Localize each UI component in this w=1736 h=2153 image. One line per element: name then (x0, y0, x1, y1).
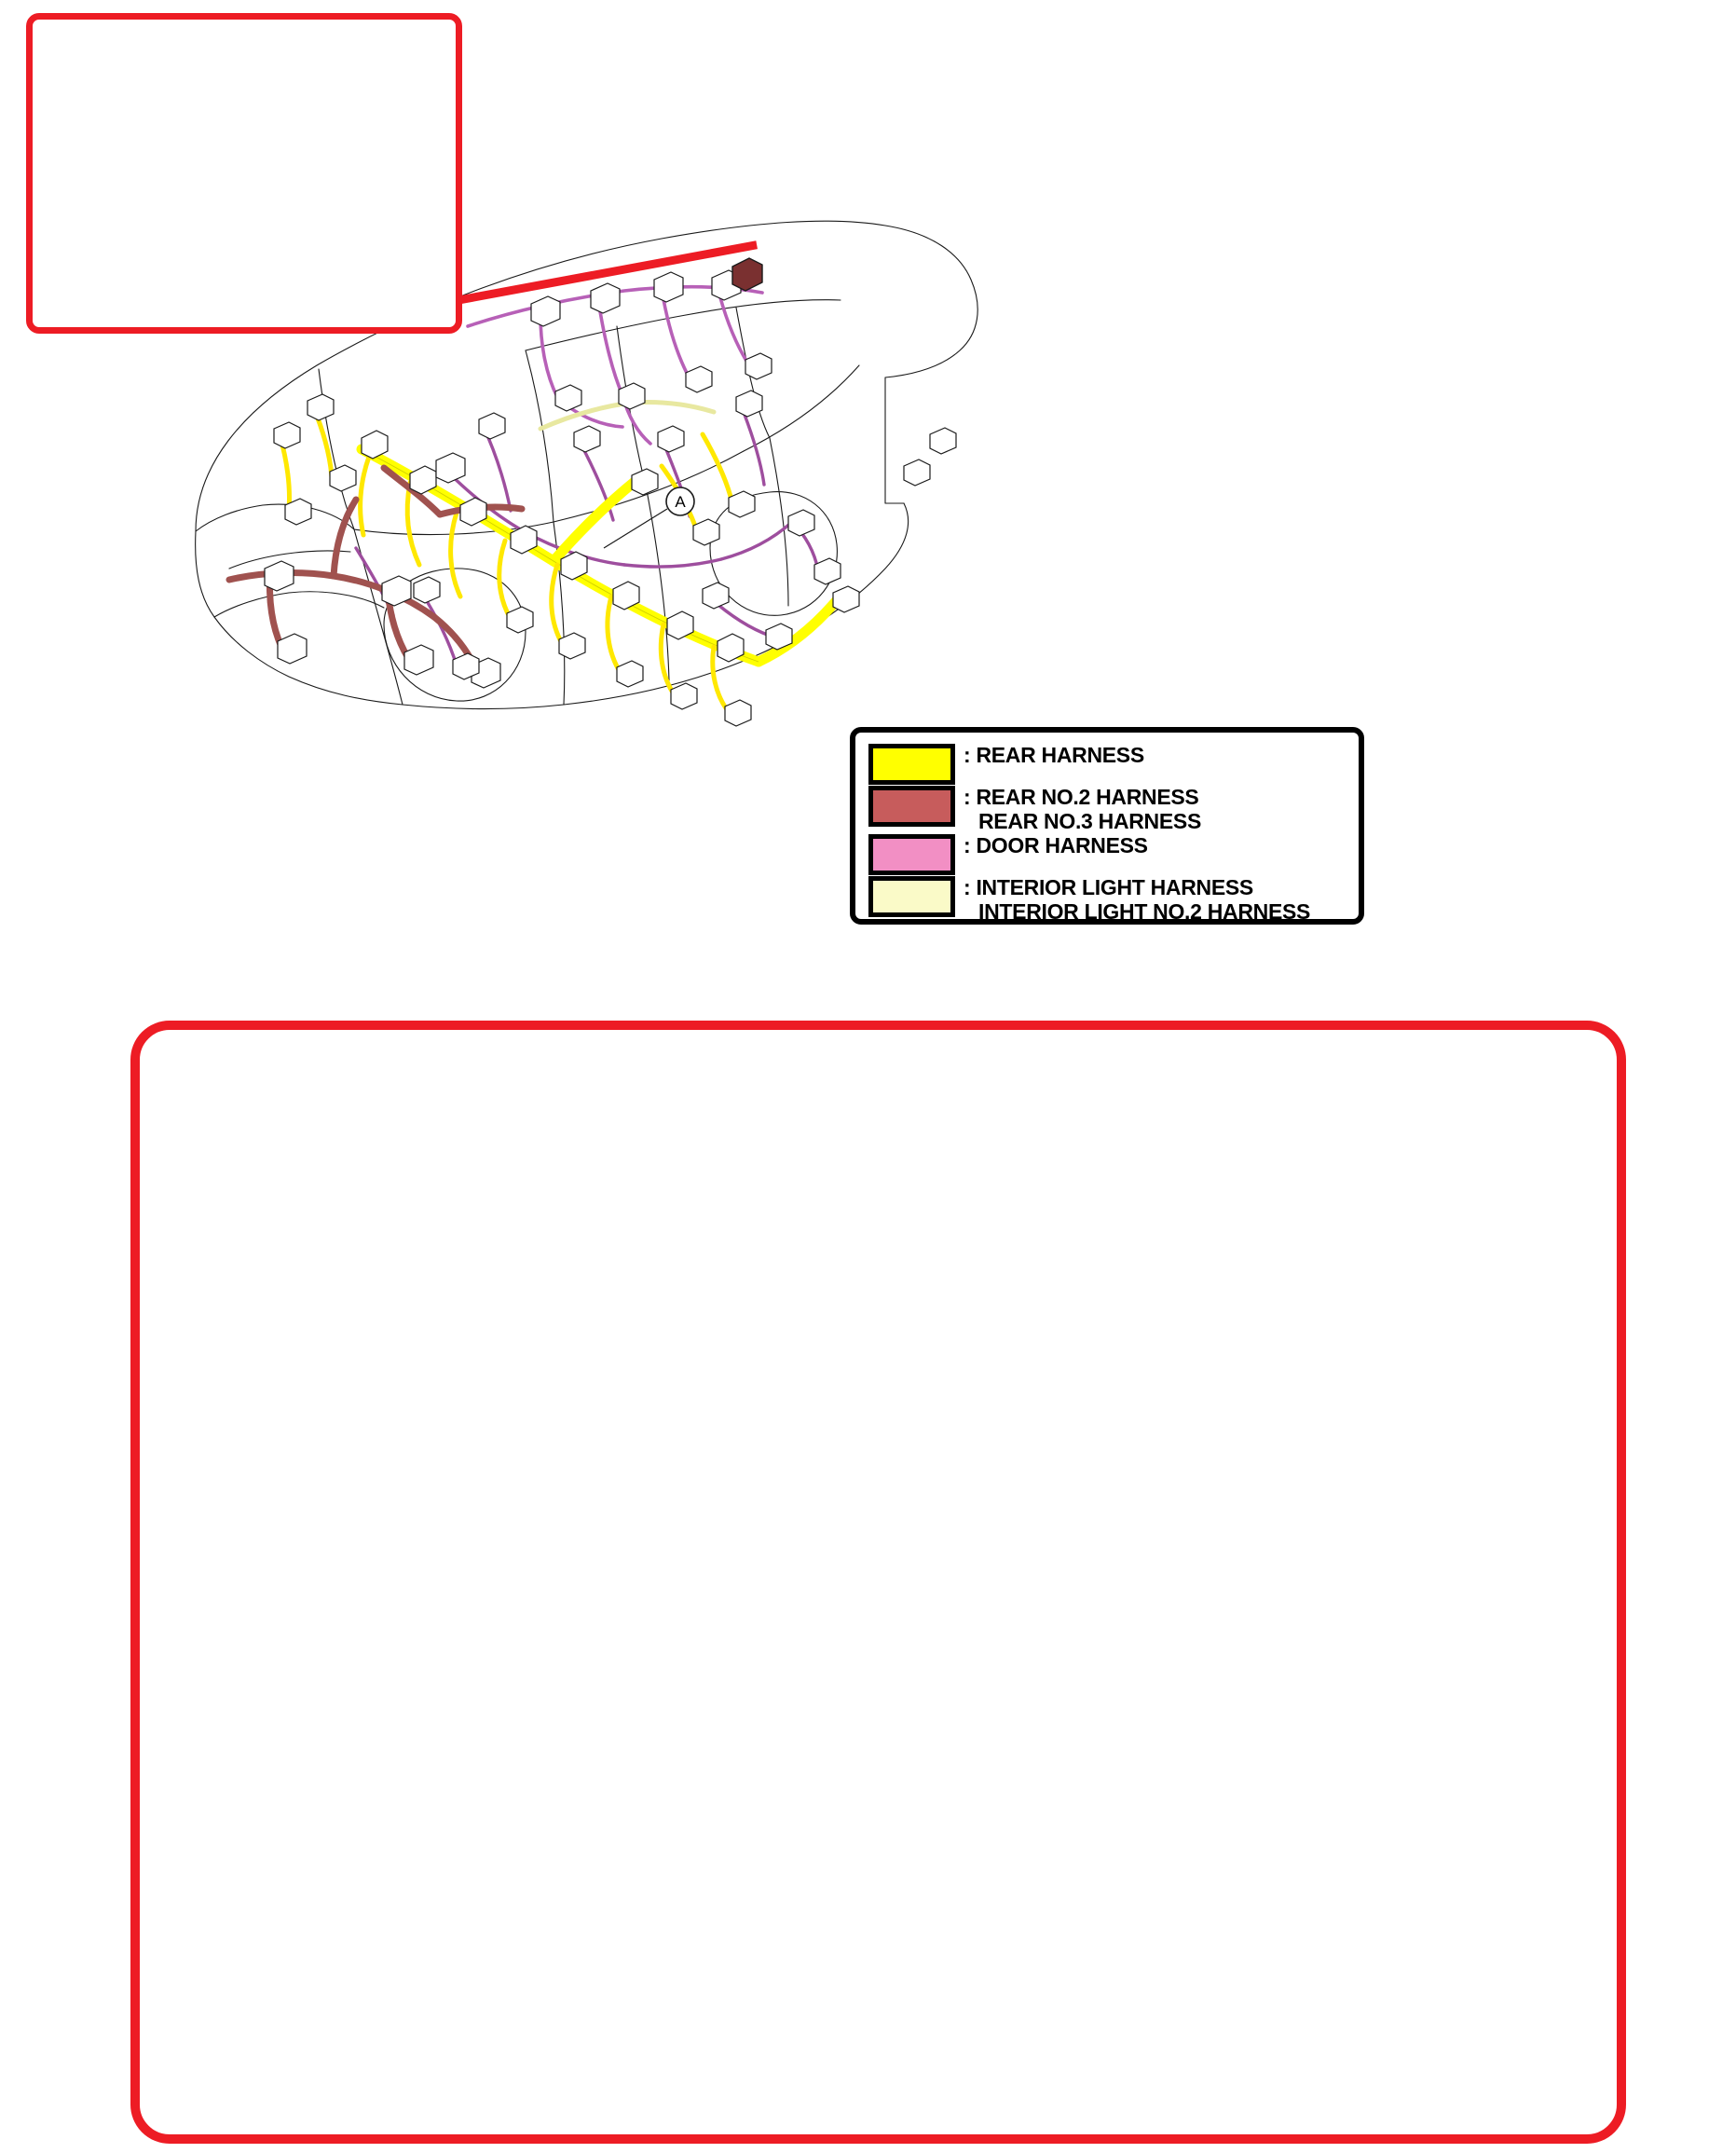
legend-color-swatch (868, 876, 955, 917)
legend-row: : DOOR HARNESS (868, 833, 1359, 875)
legend-label: : DOOR HARNESS (964, 833, 1148, 857)
legend-row: : REAR HARNESS (868, 743, 1359, 785)
legend-label: : REAR NO.2 HARNESSREAR NO.3 HARNESS (964, 785, 1201, 833)
legend-label-line1: : REAR NO.2 HARNESS (964, 785, 1198, 809)
legend-row: : REAR NO.2 HARNESSREAR NO.3 HARNESS (868, 785, 1359, 833)
legend-row: : INTERIOR LIGHT HARNESSINTERIOR LIGHT N… (868, 875, 1359, 924)
legend-label: : REAR HARNESS (964, 743, 1144, 767)
legend-label-line1: : DOOR HARNESS (964, 833, 1148, 857)
legend-color-swatch (868, 834, 955, 875)
legend-color-swatch (868, 744, 955, 785)
legend-label-line1: : INTERIOR LIGHT HARNESS (964, 875, 1253, 899)
legend-color-swatch (868, 786, 955, 827)
legend-label-line1: : REAR HARNESS (964, 743, 1144, 767)
legend-label-line2: INTERIOR LIGHT NO.2 HARNESS (964, 899, 1310, 924)
main-callout-box (130, 1021, 1626, 2144)
legend-label: : INTERIOR LIGHT HARNESSINTERIOR LIGHT N… (964, 875, 1310, 924)
svg-text:A: A (675, 493, 686, 511)
harness-color-legend: : REAR HARNESS: REAR NO.2 HARNESSREAR NO… (850, 727, 1364, 925)
inset-callout-box (26, 13, 462, 334)
legend-label-line2: REAR NO.3 HARNESS (964, 809, 1201, 833)
